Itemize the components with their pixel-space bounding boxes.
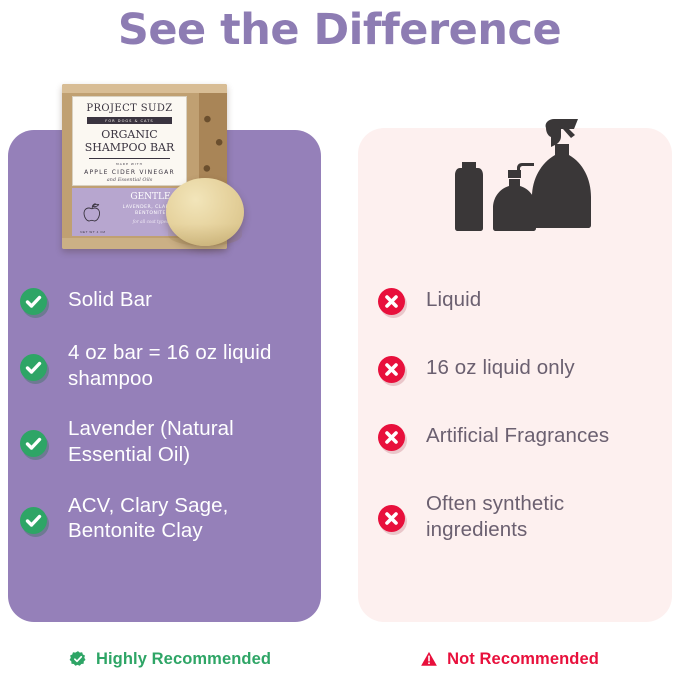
- verified-badge-icon: [69, 650, 87, 668]
- cross-circle-icon: [378, 424, 405, 451]
- bottles-svg: [425, 118, 615, 258]
- list-item: ACV, Clary Sage, Bentonite Clay: [20, 494, 312, 544]
- product-label-top: PROJECT SUDZ FOR DOGS & CATS ORGANIC SHA…: [72, 96, 187, 186]
- check-circle-icon: [20, 507, 47, 534]
- warning-triangle-icon: [420, 650, 438, 668]
- list-item: 16 oz liquid only: [378, 356, 664, 383]
- list-item: Often synthetic ingredients: [378, 492, 664, 542]
- list-item: Liquid: [378, 288, 664, 315]
- check-glyph: [20, 288, 47, 315]
- list-item: 4 oz bar = 16 oz liquid shampoo: [20, 341, 312, 391]
- list-item-label: 16 oz liquid only: [426, 355, 575, 381]
- cross-glyph: [378, 424, 405, 451]
- check-circle-icon: [20, 288, 47, 315]
- warning-triangle-glyph: [420, 650, 438, 668]
- list-item: Artificial Fragrances: [378, 424, 664, 451]
- plastic-bottles-silhouette: [425, 118, 615, 258]
- page-title: See the Difference: [0, 6, 679, 55]
- cross-glyph: [378, 288, 405, 315]
- apple-illustration-cell: NET WT 4 OZ: [72, 188, 114, 236]
- ingredient-main: APPLE CIDER VINEGAR: [73, 169, 186, 176]
- list-item-label: 4 oz bar = 16 oz liquid shampoo: [68, 340, 312, 391]
- cross-glyph: [378, 505, 405, 532]
- list-item-label: Solid Bar: [68, 287, 152, 313]
- check-glyph: [20, 354, 47, 381]
- list-item: Solid Bar: [20, 288, 312, 315]
- product-name: ORGANIC SHAMPOO BAR: [73, 128, 186, 154]
- ingredient-sub: and Essential Oils: [73, 177, 186, 183]
- list-item-label: Often synthetic ingredients: [426, 491, 664, 542]
- verified-badge-glyph: [69, 650, 87, 668]
- recommended-feature-list: Solid Bar 4 oz bar = 16 oz liquid shampo…: [20, 288, 312, 544]
- pump-bottle-icon: [493, 163, 536, 231]
- label-divider: [89, 158, 170, 159]
- plain-bottle-icon: [455, 162, 483, 231]
- cross-circle-icon: [378, 505, 405, 532]
- list-item: Lavender (Natural Essential Oil): [20, 417, 312, 467]
- footer-highly-recommended: Highly Recommended: [0, 646, 340, 672]
- cross-circle-icon: [378, 356, 405, 383]
- list-item-label: Artificial Fragrances: [426, 423, 609, 449]
- cross-glyph: [378, 356, 405, 383]
- brand-name: PROJECT SUDZ: [73, 103, 186, 114]
- net-weight: NET WT 4 OZ: [72, 230, 114, 234]
- made-with-label: MADE WITH: [73, 162, 186, 166]
- box-top-edge: [62, 84, 227, 93]
- check-circle-icon: [20, 354, 47, 381]
- cross-circle-icon: [378, 288, 405, 315]
- list-item-label: Lavender (Natural Essential Oil): [68, 416, 312, 467]
- brand-tagline: FOR DOGS & CATS: [87, 117, 172, 124]
- check-glyph: [20, 430, 47, 457]
- footer-not-recommended: Not Recommended: [340, 646, 679, 672]
- list-item-label: Liquid: [426, 287, 481, 313]
- list-item-label: ACV, Clary Sage, Bentonite Clay: [68, 493, 312, 544]
- spray-bottle-icon: [532, 119, 591, 228]
- footer-right-label: Not Recommended: [447, 650, 599, 669]
- check-circle-icon: [20, 430, 47, 457]
- footer-left-label: Highly Recommended: [96, 650, 271, 669]
- soap-bar-puck-icon: [166, 178, 244, 246]
- product-photo: PROJECT SUDZ FOR DOGS & CATS ORGANIC SHA…: [62, 84, 227, 256]
- apple-icon: [80, 199, 106, 225]
- not-recommended-feature-list: Liquid 16 oz liquid only Artificial Frag…: [378, 288, 664, 542]
- check-glyph: [20, 507, 47, 534]
